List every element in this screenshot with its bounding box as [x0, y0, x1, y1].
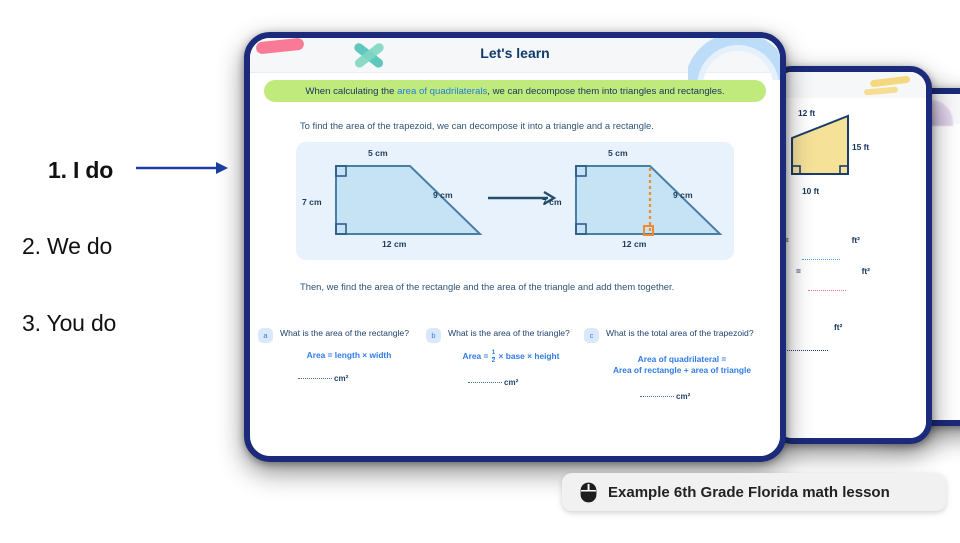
left-shape-left-label: 7 cm	[302, 197, 322, 207]
question-b-badge: b	[426, 328, 441, 343]
question-c-formula-line2: Area of rectangle + area of triangle	[613, 365, 751, 375]
question-c-badge: c	[584, 328, 599, 343]
dotted-answer-line-navy	[784, 350, 828, 351]
question-b-formula-suffix: × base × height	[498, 351, 559, 361]
question-b-unit: cm²	[504, 378, 518, 387]
fraction-denominator: 2	[492, 357, 495, 365]
card2-row-2[interactable]: = ft²	[796, 266, 870, 276]
question-b-formula-prefix: Area =	[463, 351, 491, 361]
step-item-you-do[interactable]: 3. You do	[22, 310, 116, 337]
question-c-formula: Area of quadrilateral = Area of rectangl…	[590, 354, 774, 377]
banner-after: , we can decompose them into triangles a…	[487, 86, 724, 97]
question-a-badge: a	[258, 328, 273, 343]
page-title: Let's learn	[250, 45, 780, 61]
mid-instruction-text: Then, we find the area of the rectangle …	[300, 281, 750, 292]
dotted-answer-line	[298, 378, 332, 379]
dotted-answer-line-blue	[802, 259, 840, 260]
card-1-content: Let's learn When calculating the area of…	[250, 38, 780, 456]
step-label: 3. You do	[22, 310, 116, 336]
fraction-numerator: 1	[492, 350, 495, 357]
card2-bottom-label: 10 ft	[802, 186, 819, 196]
card2-row-1-blank[interactable]	[802, 249, 840, 267]
key-concept-banner: When calculating the area of quadrilater…	[264, 80, 766, 102]
trapezoid-shape-right-decomposed	[568, 158, 748, 248]
question-a-formula: Area = length × width	[276, 350, 422, 361]
fraction-one-half: 12	[492, 350, 495, 364]
question-a-answer[interactable]: cm²	[298, 374, 348, 383]
pencils-decoration-icon	[864, 76, 920, 98]
left-shape-bottom-label: 12 cm	[382, 239, 406, 249]
lesson-card-1[interactable]: Let's learn When calculating the area of…	[244, 32, 786, 462]
question-b-text: What is the area of the triangle?	[448, 329, 592, 339]
banner-text: When calculating the area of quadrilater…	[305, 86, 724, 97]
card2-row-3-unit: ft²	[834, 322, 842, 332]
question-c-formula-line1: Area of quadrilateral =	[638, 354, 727, 364]
card2-right-label: 15 ft	[852, 142, 869, 152]
question-b-formula: Area = 12 × base × height	[436, 350, 586, 364]
diagram-panel: 5 cm 7 cm 9 cm 12 cm 5 cm 7	[296, 142, 734, 260]
right-shape-slant-label: 9 cm	[673, 190, 693, 200]
card2-row-2-unit: ft²	[862, 266, 870, 276]
right-shape-left-label: 7 cm	[542, 197, 562, 207]
question-c-unit: cm²	[676, 392, 690, 401]
right-shape-bottom-label: 12 cm	[622, 239, 646, 249]
banner-before: When calculating the	[305, 86, 397, 97]
step-label: 1. I do	[48, 157, 113, 183]
step-label: 2. We do	[22, 233, 112, 259]
question-a-unit: cm²	[334, 374, 348, 383]
card2-row-3[interactable]: ft²	[834, 322, 842, 332]
card2-row-2-blank[interactable]	[808, 280, 846, 298]
dotted-answer-line	[468, 382, 502, 383]
card2-top-label: 12 ft	[798, 108, 815, 118]
dotted-answer-line-red	[808, 290, 846, 291]
lesson-step-list: 1. I do 2. We do 3. You do	[0, 0, 236, 543]
card2-row-2-equals: =	[796, 266, 801, 276]
caption-badge: Example 6th Grade Florida math lesson	[562, 473, 946, 511]
lesson-card-stack: 12 ft 15 ft 10 ft = ft² = ft² ft²	[214, 6, 960, 476]
card2-row-1[interactable]: = ft²	[784, 235, 860, 245]
step-item-i-do[interactable]: 1. I do	[48, 157, 113, 184]
card2-row-3-blank[interactable]	[784, 340, 828, 358]
question-c-answer[interactable]: cm²	[640, 392, 690, 401]
question-c-text: What is the total area of the trapezoid?	[606, 329, 774, 339]
banner-highlight: area of quadrilaterals	[397, 86, 487, 97]
step-item-we-do[interactable]: 2. We do	[22, 233, 112, 260]
card-2-content: 12 ft 15 ft 10 ft = ft² = ft² ft²	[776, 72, 926, 438]
caption-text: Example 6th Grade Florida math lesson	[608, 484, 890, 501]
left-shape-slant-label: 9 cm	[433, 190, 453, 200]
dotted-answer-line	[640, 396, 674, 397]
question-a-text: What is the area of the rectangle?	[280, 329, 436, 339]
trapezoid-shape-left	[328, 158, 508, 248]
lead-instruction-text: To find the area of the trapezoid, we ca…	[300, 120, 750, 131]
mouse-icon	[580, 482, 597, 503]
lesson-card-2[interactable]: 12 ft 15 ft 10 ft = ft² = ft² ft²	[770, 66, 932, 444]
question-b-answer[interactable]: cm²	[468, 378, 518, 387]
right-shape-top-label: 5 cm	[608, 148, 628, 158]
left-shape-top-label: 5 cm	[368, 148, 388, 158]
card2-row-1-unit: ft²	[852, 235, 860, 245]
